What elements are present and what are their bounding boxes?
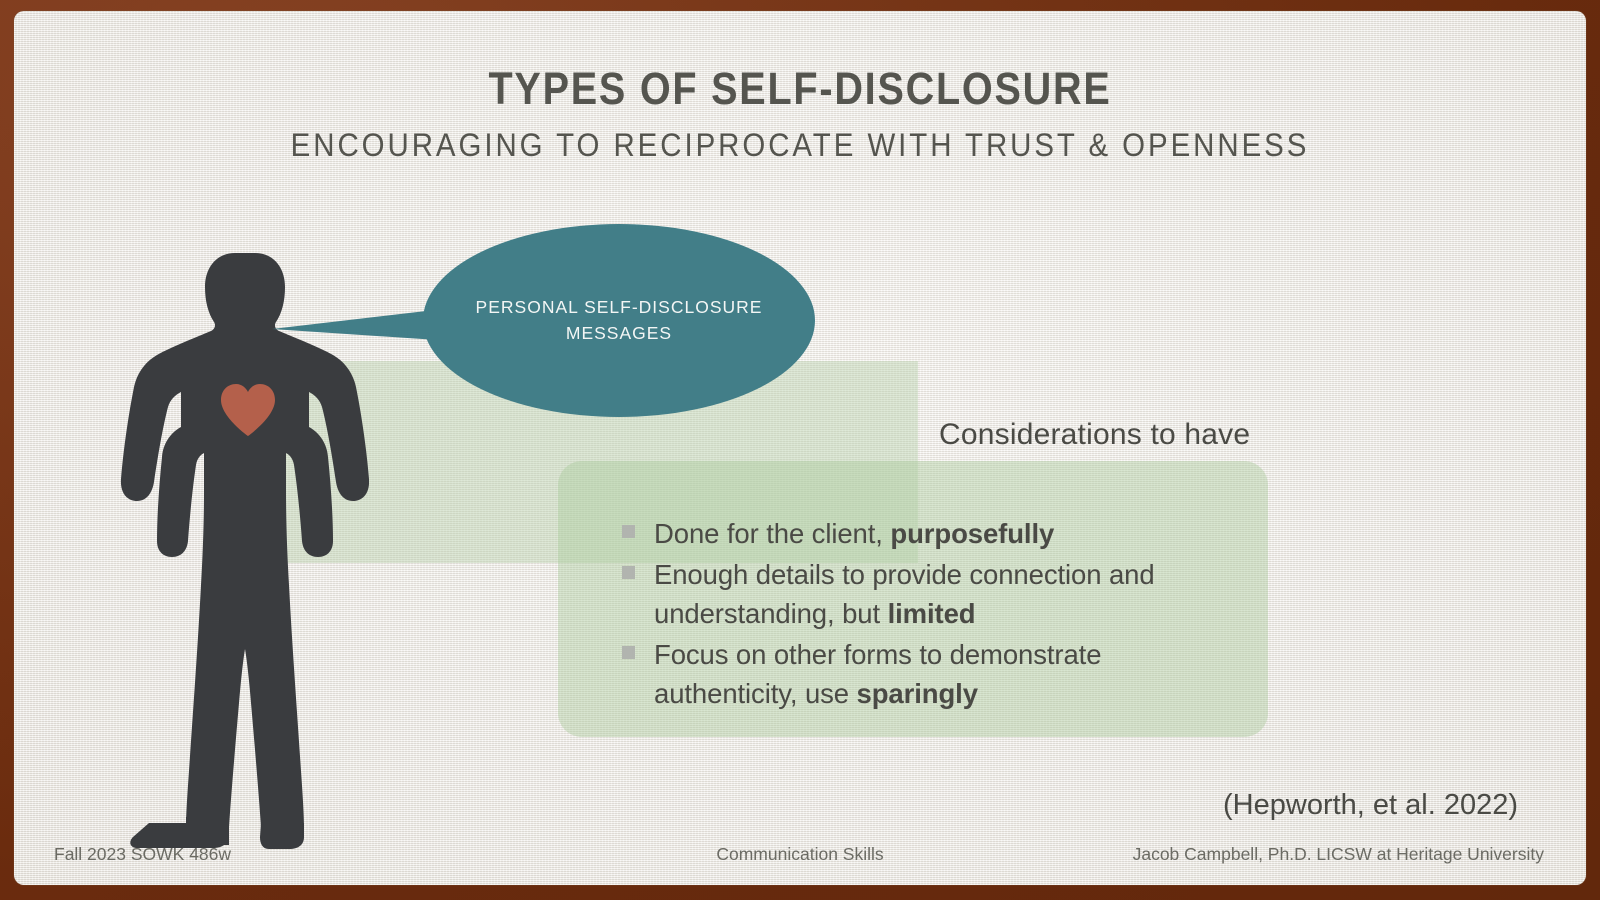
list-item: Done for the client, purposefully (622, 514, 1242, 553)
bullet-text: Done for the client, purposefully (654, 514, 1054, 553)
slide-title: TYPES OF SELF-DISCLOSURE (108, 63, 1491, 115)
slide-frame: TYPES OF SELF-DISCLOSURE ENCOURAGING TO … (0, 0, 1600, 900)
bullet-square-icon (622, 525, 635, 538)
heart-icon (219, 383, 277, 437)
list-item: Focus on other forms to demonstrate auth… (622, 635, 1242, 713)
bullet-text: Enough details to provide connection and… (654, 555, 1242, 633)
list-item: Enough details to provide connection and… (622, 555, 1242, 633)
bullet-square-icon (622, 646, 635, 659)
slide-subtitle: ENCOURAGING TO RECIPROCATE WITH TRUST & … (77, 127, 1523, 164)
slide-canvas: TYPES OF SELF-DISCLOSURE ENCOURAGING TO … (14, 11, 1586, 885)
bullet-text: Focus on other forms to demonstrate auth… (654, 635, 1242, 713)
callout-text: PERSONAL SELF-DISCLOSURE MESSAGES (476, 295, 763, 346)
footer-right: Jacob Campbell, Ph.D. LICSW at Heritage … (1133, 844, 1544, 865)
considerations-heading: Considerations to have (939, 418, 1250, 452)
considerations-bullet-list: Done for the client, purposefully Enough… (622, 514, 1242, 715)
citation-text: (Hepworth, et al. 2022) (1223, 789, 1518, 822)
bullet-square-icon (622, 566, 635, 579)
callout-bubble: PERSONAL SELF-DISCLOSURE MESSAGES (423, 224, 815, 417)
